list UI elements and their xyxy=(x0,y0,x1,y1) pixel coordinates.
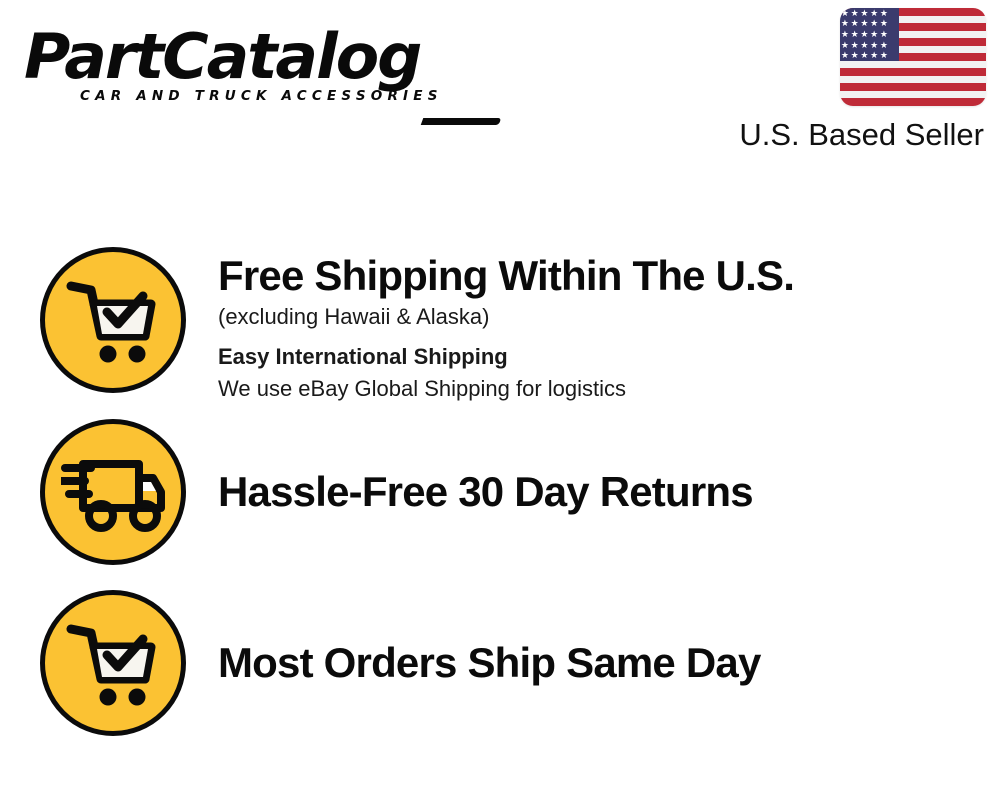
feature-text-block: Most Orders Ship Same Day xyxy=(198,638,761,688)
feature-item: Free Shipping Within The U.S. (excluding… xyxy=(40,247,980,405)
logo-swash-decoration xyxy=(421,118,502,125)
brand-logo[interactable]: PartCatalog CAR AND TRUCK ACCESSORIES xyxy=(24,22,494,122)
feature-title: Free Shipping Within The U.S. xyxy=(218,251,794,301)
feature-subtitle-exclusion: (excluding Hawaii & Alaska) xyxy=(218,301,794,333)
shopping-cart-check-icon xyxy=(40,590,186,736)
feature-item: Hassle-Free 30 Day Returns xyxy=(40,419,980,565)
flag-canton: ★★★★★★ ★★★★★★ ★★★★★★ ★★★★★★ ★★★★★★ xyxy=(840,8,899,61)
feature-subtitle-international: Easy International Shipping xyxy=(218,341,794,373)
banner-header: PartCatalog CAR AND TRUCK ACCESSORIES xyxy=(0,0,1000,160)
feature-title: Hassle-Free 30 Day Returns xyxy=(218,467,753,517)
us-flag-icon: ★★★★★★ ★★★★★★ ★★★★★★ ★★★★★★ ★★★★★★ xyxy=(840,8,986,106)
shopping-cart-check-icon xyxy=(40,247,186,393)
feature-text-block: Hassle-Free 30 Day Returns xyxy=(198,467,753,517)
us-based-seller-label: U.S. Based Seller xyxy=(726,117,986,153)
feature-subtitle-logistics: We use eBay Global Shipping for logistic… xyxy=(218,373,794,405)
feature-item: Most Orders Ship Same Day xyxy=(40,590,980,736)
feature-title: Most Orders Ship Same Day xyxy=(218,638,761,688)
us-seller-badge: ★★★★★★ ★★★★★★ ★★★★★★ ★★★★★★ ★★★★★★ U.S. … xyxy=(726,8,986,153)
delivery-truck-icon xyxy=(40,419,186,565)
feature-text-block: Free Shipping Within The U.S. (excluding… xyxy=(198,247,794,405)
promo-banner: PartCatalog CAR AND TRUCK ACCESSORIES xyxy=(0,0,1000,800)
logo-wordmark: PartCatalog xyxy=(24,22,503,92)
